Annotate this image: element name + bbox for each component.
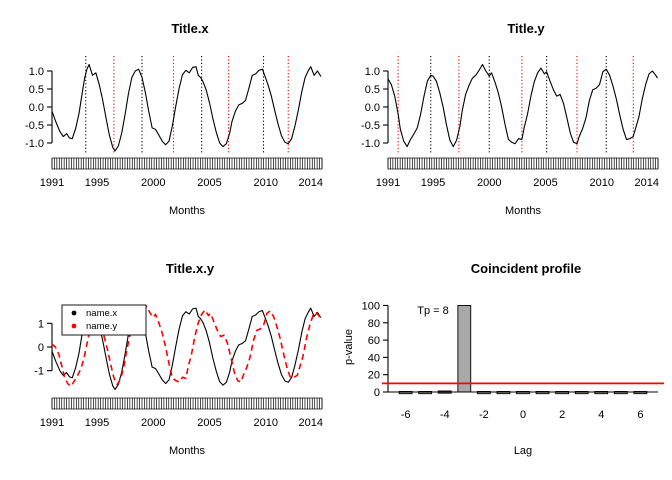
x-tick-label: 2000 xyxy=(477,177,501,189)
x-tick-label: -4 xyxy=(440,409,450,421)
chart-title-x: Title.x-1.0-0.50.00.51.01991199520002005… xyxy=(0,0,336,240)
x-tick-label: -2 xyxy=(479,409,489,421)
x-tick-label: 2014 xyxy=(299,417,323,429)
y-axis-label: p-value xyxy=(343,329,355,365)
y-tick-label: 20 xyxy=(368,370,380,382)
y-tick-label: 40 xyxy=(368,352,380,364)
x-tick-label: 1991 xyxy=(376,177,400,189)
y-tick-label: 1 xyxy=(38,318,44,330)
legend-marker-dot xyxy=(72,324,77,329)
x-tick-label: 2010 xyxy=(254,417,278,429)
y-tick-label: 1.0 xyxy=(29,66,44,78)
x-tick-label: 1995 xyxy=(85,177,109,189)
x-tick-label: 2014 xyxy=(635,177,659,189)
panel-title-x: Title.x-1.0-0.50.00.51.01991199520002005… xyxy=(0,0,336,240)
x-tick-label: 2010 xyxy=(590,177,614,189)
x-tick-label: 4 xyxy=(598,409,604,421)
x-tick-label: 2005 xyxy=(533,177,557,189)
x-tick-label: 2000 xyxy=(141,417,165,429)
series-line-name-y xyxy=(388,65,657,147)
y-tick-label: -1.0 xyxy=(361,138,380,150)
chart-title: Title.y xyxy=(507,21,545,36)
y-tick-label: 0 xyxy=(38,342,44,354)
x-axis-label: Months xyxy=(505,205,542,217)
x-tick-label: 1995 xyxy=(421,177,445,189)
x-tick-label: 2 xyxy=(559,409,565,421)
x-tick-label: 1995 xyxy=(85,417,109,429)
y-tick-label: -0.5 xyxy=(25,120,44,132)
legend-label: name.y xyxy=(86,321,117,332)
chart-title-x-y: Title.x.y-101199119952000200520102014Mon… xyxy=(0,240,336,480)
x-tick-label: -6 xyxy=(401,409,411,421)
x-tick-label: 6 xyxy=(637,409,643,421)
x-tick-label: 2000 xyxy=(141,177,165,189)
series-line-name-x xyxy=(52,65,321,151)
chart-title: Title.x xyxy=(171,21,209,36)
legend-label: name.x xyxy=(86,308,117,319)
chart-title: Title.x.y xyxy=(166,261,215,276)
figure-canvas: Title.x-1.0-0.50.00.51.01991199520002005… xyxy=(0,0,672,480)
x-tick-label: 2010 xyxy=(254,177,278,189)
legend: name.xname.y xyxy=(62,305,146,335)
x-tick-label: 2005 xyxy=(197,417,221,429)
y-tick-label: 1.0 xyxy=(365,66,380,78)
x-axis-label: Months xyxy=(169,445,206,457)
y-tick-label: 0.5 xyxy=(365,84,380,96)
x-axis-label: Months xyxy=(169,205,206,217)
x-tick-label: 2005 xyxy=(197,177,221,189)
x-tick-label: 0 xyxy=(520,409,526,421)
y-tick-label: -1 xyxy=(34,366,44,378)
x-axis-label: Lag xyxy=(514,445,532,457)
rug-axis xyxy=(52,398,322,409)
y-tick-label: 0.5 xyxy=(29,84,44,96)
chart-coincident-profile: Coincident profile020406080100p-value-6-… xyxy=(336,240,672,480)
y-tick-label: 0.0 xyxy=(365,102,380,114)
panel-title-x-y: Title.x.y-101199119952000200520102014Mon… xyxy=(0,240,336,480)
x-tick-label: 2014 xyxy=(299,177,323,189)
panel-title-y: Title.y-1.0-0.50.00.51.01991199520002005… xyxy=(336,0,672,240)
y-tick-label: 100 xyxy=(362,300,380,312)
x-tick-label: 1991 xyxy=(40,177,64,189)
y-tick-label: 0 xyxy=(374,387,380,399)
rug-axis xyxy=(388,158,658,169)
chart-title: Coincident profile xyxy=(471,261,582,276)
panel-coincident-profile: Coincident profile020406080100p-value-6-… xyxy=(336,240,672,480)
y-tick-label: 60 xyxy=(368,335,380,347)
chart-title-y: Title.y-1.0-0.50.00.51.01991199520002005… xyxy=(336,0,672,240)
legend-marker-dot xyxy=(72,311,77,316)
x-tick-label: 1991 xyxy=(40,417,64,429)
y-tick-label: 0.0 xyxy=(29,102,44,114)
rug-axis xyxy=(52,158,322,169)
annotation-tp: Tp = 8 xyxy=(417,305,449,317)
y-tick-label: -0.5 xyxy=(361,120,380,132)
y-tick-label: -1.0 xyxy=(25,138,44,150)
bar xyxy=(458,305,471,392)
y-tick-label: 80 xyxy=(368,318,380,330)
